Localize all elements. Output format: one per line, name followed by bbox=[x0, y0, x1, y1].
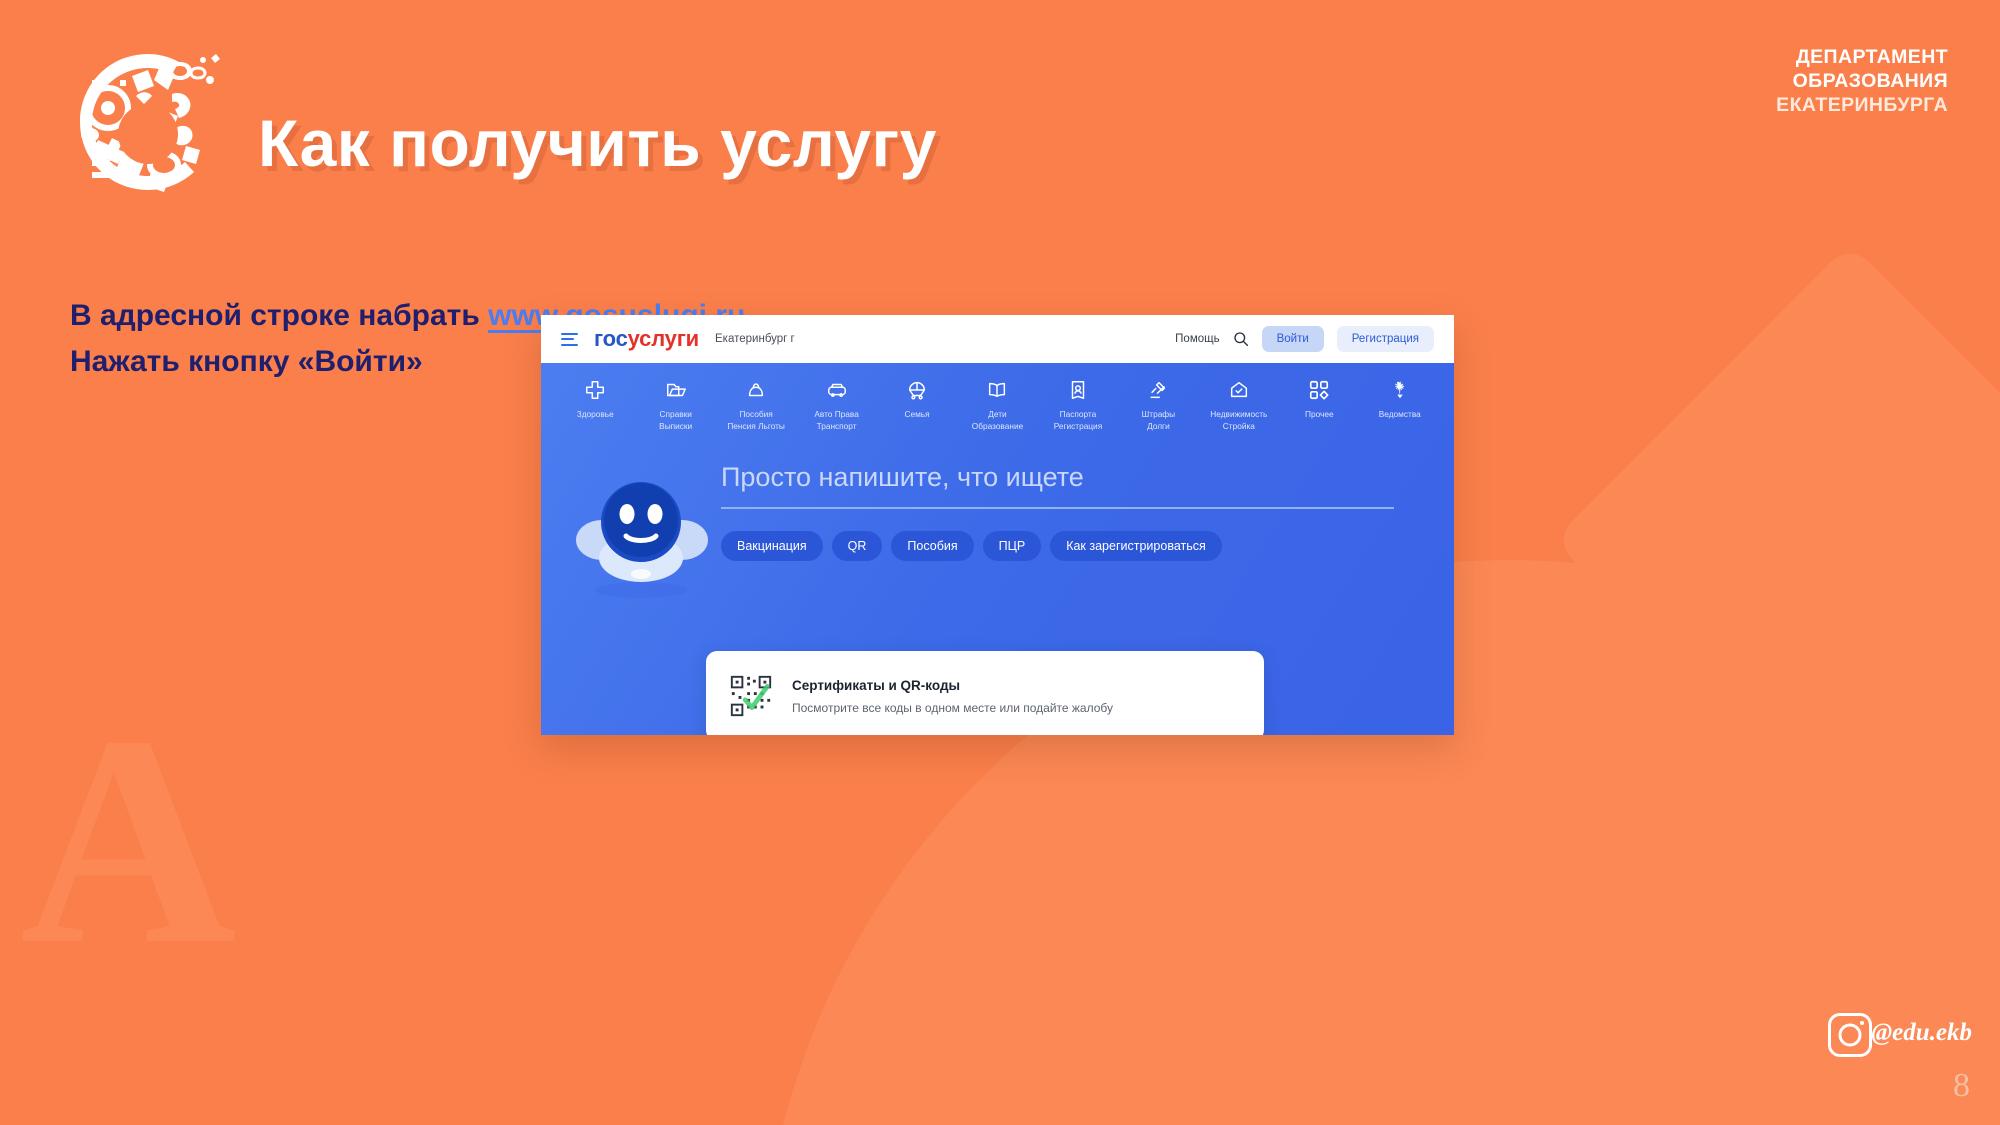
nav-item-family[interactable]: Семья bbox=[877, 379, 957, 432]
help-link[interactable]: Помощь bbox=[1175, 333, 1219, 345]
nav-item-passports[interactable]: Паспорта Регистрация bbox=[1038, 379, 1118, 432]
health-cross-icon bbox=[584, 379, 606, 401]
instruction-line-1-text: В адресной строке набрать bbox=[70, 299, 488, 332]
nav-item-health[interactable]: Здоровье bbox=[555, 379, 635, 432]
certificates-card-text: Сертификаты и QR-коды Посмотрите все код… bbox=[792, 678, 1113, 715]
gosuslugi-screenshot: госуслуги Екатеринбург г Помощь Войти Ре… bbox=[541, 315, 1454, 735]
stroller-icon bbox=[906, 379, 928, 401]
gosuslugi-logo[interactable]: госуслуги bbox=[594, 326, 699, 352]
decorative-chevron-1 bbox=[1553, 243, 2000, 837]
city-selector[interactable]: Екатеринбург г bbox=[715, 333, 795, 345]
hero-section: Просто напишите, что ищете Вакцинация QR… bbox=[541, 432, 1454, 602]
gosuslugi-header: госуслуги Екатеринбург г Помощь Войти Ре… bbox=[541, 315, 1454, 363]
certificates-card-title: Сертификаты и QR-коды bbox=[792, 678, 1113, 693]
nav-item-realestate[interactable]: Недвижимость Стройка bbox=[1199, 379, 1279, 432]
nav-item-fines[interactable]: Штрафы Долги bbox=[1118, 379, 1198, 432]
chip-how-to-register[interactable]: Как зарегистрироваться bbox=[1050, 531, 1222, 561]
nav-label: Пособия Пенсия Льготы bbox=[727, 408, 785, 432]
nav-label: Паспорта Регистрация bbox=[1054, 408, 1103, 432]
qr-code-check-icon bbox=[728, 673, 774, 719]
double-eagle-icon bbox=[1389, 379, 1411, 401]
nav-label: Здоровье bbox=[577, 408, 614, 420]
nav-item-certificates[interactable]: Справки Выписки bbox=[635, 379, 715, 432]
page-number: 8 bbox=[1953, 1067, 1970, 1105]
search-underline bbox=[721, 507, 1394, 509]
decorative-letter-a: A bbox=[20, 690, 237, 990]
instagram-icon[interactable] bbox=[1828, 1013, 1872, 1057]
header-actions: Помощь Войти Регистрация bbox=[1175, 326, 1434, 352]
grid-squares-icon bbox=[1308, 379, 1330, 401]
nav-label: Прочее bbox=[1305, 408, 1334, 420]
category-nav: Здоровье Справки Выписки Пособия Пенсия … bbox=[541, 363, 1454, 432]
department-line-1: ДЕПАРТАМЕНТ bbox=[1776, 46, 1948, 70]
department-line-2: ОБРАЗОВАНИЯ bbox=[1776, 70, 1948, 94]
nav-label: Дети Образование bbox=[972, 408, 1023, 432]
folder-icon bbox=[665, 379, 687, 401]
purse-icon bbox=[745, 379, 767, 401]
department-name-block: ДЕПАРТАМЕНТ ОБРАЗОВАНИЯ ЕКАТЕРИНБУРГА bbox=[1776, 46, 1948, 117]
nav-label: Штрафы Долги bbox=[1142, 408, 1175, 432]
book-icon bbox=[986, 379, 1008, 401]
hamburger-menu-icon[interactable] bbox=[561, 333, 578, 346]
hero-main: Просто напишите, что ищете Вакцинация QR… bbox=[721, 462, 1454, 602]
nav-item-benefits[interactable]: Пособия Пенсия Льготы bbox=[716, 379, 796, 432]
nav-label: Недвижимость Стройка bbox=[1210, 408, 1267, 432]
robot-mascot-icon bbox=[541, 462, 721, 602]
certificates-card[interactable]: Сертификаты и QR-коды Посмотрите все код… bbox=[706, 651, 1264, 735]
nav-label: Авто Права Транспорт bbox=[814, 408, 859, 432]
nav-item-other[interactable]: Прочее bbox=[1279, 379, 1359, 432]
chip-qr[interactable]: QR bbox=[832, 531, 883, 561]
nav-label: Ведомства bbox=[1379, 408, 1421, 420]
nav-item-agencies[interactable]: Ведомства bbox=[1360, 379, 1440, 432]
gavel-icon bbox=[1147, 379, 1169, 401]
nav-label: Семья bbox=[904, 408, 929, 420]
nav-item-education[interactable]: Дети Образование bbox=[957, 379, 1037, 432]
department-line-3: ЕКАТЕРИНБУРГА bbox=[1776, 94, 1948, 118]
nav-label: Справки Выписки bbox=[659, 408, 692, 432]
search-input[interactable]: Просто напишите, что ищете bbox=[721, 462, 1394, 507]
gosuslugi-body: Здоровье Справки Выписки Пособия Пенсия … bbox=[541, 363, 1454, 735]
slide-title: Как получить услугу bbox=[258, 105, 937, 181]
department-emblem bbox=[68, 42, 228, 202]
passport-icon bbox=[1067, 379, 1089, 401]
certificates-card-subtitle: Посмотрите все коды в одном месте или по… bbox=[792, 701, 1113, 715]
car-icon bbox=[826, 379, 848, 401]
login-button[interactable]: Войти bbox=[1262, 326, 1324, 352]
nav-item-auto[interactable]: Авто Права Транспорт bbox=[796, 379, 876, 432]
chip-pcr[interactable]: ПЦР bbox=[983, 531, 1042, 561]
chip-benefits[interactable]: Пособия bbox=[891, 531, 973, 561]
search-icon[interactable] bbox=[1233, 331, 1249, 347]
logo-text-red: услуги bbox=[628, 326, 699, 351]
register-button[interactable]: Регистрация bbox=[1337, 326, 1434, 352]
decorative-chevron-2 bbox=[1778, 558, 2000, 982]
house-check-icon bbox=[1228, 379, 1250, 401]
suggestion-chips: Вакцинация QR Пособия ПЦР Как зарегистри… bbox=[721, 531, 1394, 561]
logo-text-blue: гос bbox=[594, 326, 628, 351]
instagram-handle: @edu.ekb bbox=[1871, 1019, 1972, 1047]
chip-vaccination[interactable]: Вакцинация bbox=[721, 531, 823, 561]
